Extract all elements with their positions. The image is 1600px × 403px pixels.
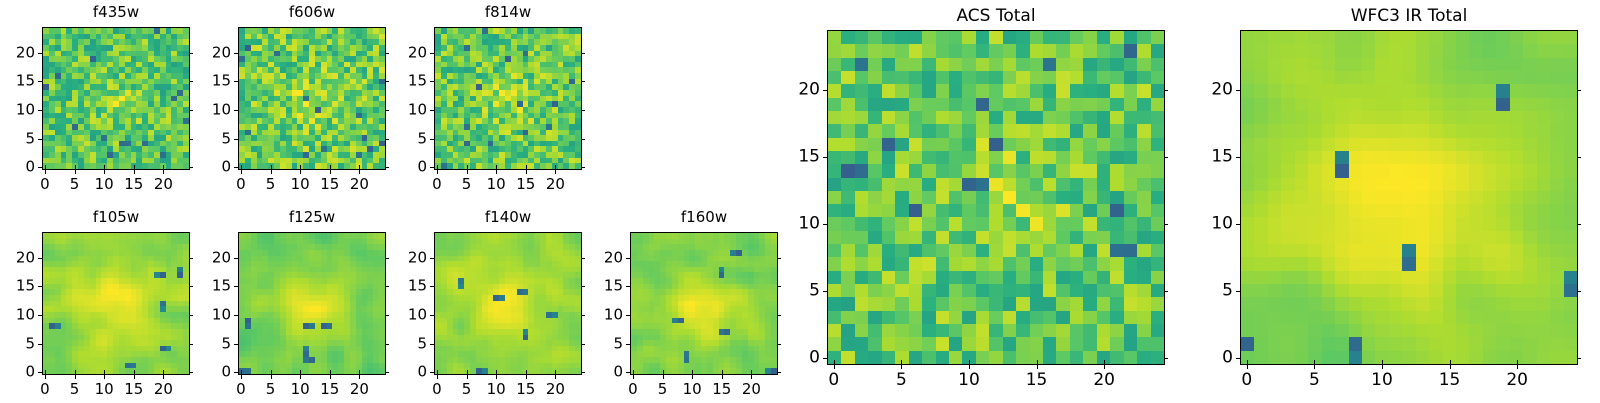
ytick-f125w-5 bbox=[234, 344, 238, 345]
xtick-acs_total-5 bbox=[901, 365, 902, 369]
yticklabel-f105w-5: 5 bbox=[2, 336, 35, 351]
ytick-f435w-0 bbox=[38, 167, 42, 168]
ytick-right-f140w-5 bbox=[581, 344, 585, 345]
heatmap-f606w bbox=[239, 28, 385, 169]
xtick-f606w-0 bbox=[241, 170, 242, 174]
panel-title-f606w: f606w bbox=[238, 5, 386, 20]
xticklabel-f125w-20: 20 bbox=[350, 382, 369, 397]
ytick-wfc3_total-5 bbox=[1236, 291, 1240, 292]
ytick-right-f125w-20 bbox=[385, 258, 389, 259]
yticklabel-wfc3_total-5: 5 bbox=[1200, 283, 1233, 300]
xticklabel-acs_total-20: 20 bbox=[1093, 372, 1115, 389]
ytick-f125w-10 bbox=[234, 315, 238, 316]
xtick-f814w-20 bbox=[555, 170, 556, 174]
ytick-wfc3_total-20 bbox=[1236, 90, 1240, 91]
xtick-inner-f435w-20 bbox=[163, 165, 164, 169]
panel-title-f814w: f814w bbox=[434, 5, 582, 20]
xtick-f140w-20 bbox=[555, 375, 556, 379]
yticklabel-acs_total-10: 10 bbox=[787, 216, 820, 233]
xticklabel-f140w-20: 20 bbox=[546, 382, 565, 397]
xtick-inner-f160w-5 bbox=[663, 370, 664, 374]
ytick-right-wfc3_total-5 bbox=[1577, 291, 1581, 292]
yticklabel-f435w-5: 5 bbox=[2, 131, 35, 146]
xticklabel-f140w-10: 10 bbox=[487, 382, 506, 397]
xtick-acs_total-0 bbox=[834, 365, 835, 369]
heatmap-f814w bbox=[435, 28, 581, 169]
xtick-inner-f814w-5 bbox=[467, 165, 468, 169]
yticklabel-f140w-20: 20 bbox=[394, 250, 427, 265]
xtick-f105w-15 bbox=[134, 375, 135, 379]
ytick-right-f105w-15 bbox=[189, 286, 193, 287]
ytick-right-f814w-20 bbox=[581, 53, 585, 54]
panel-f606w: f606w0510152005101520 bbox=[198, 3, 406, 198]
xticklabel-f105w-5: 5 bbox=[70, 382, 80, 397]
heatmap-f435w bbox=[43, 28, 189, 169]
xticklabel-f435w-5: 5 bbox=[70, 177, 80, 192]
ytick-f814w-0 bbox=[430, 167, 434, 168]
xtick-f125w-20 bbox=[359, 375, 360, 379]
yticklabel-f814w-15: 15 bbox=[394, 74, 427, 89]
yticklabel-f606w-15: 15 bbox=[198, 74, 231, 89]
xticklabel-f435w-10: 10 bbox=[95, 177, 114, 192]
xticklabel-f606w-20: 20 bbox=[350, 177, 369, 192]
xticklabel-f814w-0: 0 bbox=[432, 177, 442, 192]
panel-title-f140w: f140w bbox=[434, 210, 582, 225]
xtick-wfc3_total-20 bbox=[1517, 365, 1518, 369]
xtick-inner-f606w-15 bbox=[330, 165, 331, 169]
xtick-wfc3_total-10 bbox=[1382, 365, 1383, 369]
ytick-f125w-15 bbox=[234, 286, 238, 287]
xticklabel-f125w-0: 0 bbox=[236, 382, 246, 397]
heatmap-f125w bbox=[239, 233, 385, 374]
ytick-right-f606w-10 bbox=[385, 110, 389, 111]
ytick-right-f160w-15 bbox=[777, 286, 781, 287]
xtick-f105w-10 bbox=[104, 375, 105, 379]
xticklabel-acs_total-10: 10 bbox=[958, 372, 980, 389]
axes-f160w bbox=[630, 232, 778, 375]
xtick-inner-f160w-10 bbox=[692, 370, 693, 374]
axes-f105w bbox=[42, 232, 190, 375]
xtick-inner-f814w-15 bbox=[526, 165, 527, 169]
xtick-f105w-0 bbox=[45, 375, 46, 379]
panel-f125w: f125w0510152005101520 bbox=[198, 208, 406, 403]
ytick-right-acs_total-10 bbox=[1164, 224, 1168, 225]
xtick-f140w-10 bbox=[496, 375, 497, 379]
xtick-inner-f160w-0 bbox=[633, 370, 634, 374]
xtick-f105w-5 bbox=[75, 375, 76, 379]
axes-f435w bbox=[42, 27, 190, 170]
ytick-right-acs_total-0 bbox=[1164, 358, 1168, 359]
ytick-right-wfc3_total-0 bbox=[1577, 358, 1581, 359]
xtick-f606w-10 bbox=[300, 170, 301, 174]
ytick-wfc3_total-15 bbox=[1236, 157, 1240, 158]
yticklabel-f105w-20: 20 bbox=[2, 250, 35, 265]
panel-f160w: f160w0510152005101520 bbox=[590, 208, 798, 403]
xticklabel-f606w-0: 0 bbox=[236, 177, 246, 192]
ytick-right-acs_total-15 bbox=[1164, 157, 1168, 158]
yticklabel-f125w-0: 0 bbox=[198, 365, 231, 380]
ytick-f160w-10 bbox=[626, 315, 630, 316]
ytick-right-f814w-5 bbox=[581, 139, 585, 140]
panel-title-acs_total: ACS Total bbox=[827, 8, 1165, 25]
xtick-inner-wfc3_total-20 bbox=[1517, 360, 1518, 364]
ytick-acs_total-10 bbox=[823, 224, 827, 225]
yticklabel-f160w-0: 0 bbox=[590, 365, 623, 380]
xticklabel-f606w-15: 15 bbox=[320, 177, 339, 192]
yticklabel-f160w-10: 10 bbox=[590, 307, 623, 322]
ytick-right-f140w-0 bbox=[581, 372, 585, 373]
axes-f140w bbox=[434, 232, 582, 375]
xtick-f140w-15 bbox=[526, 375, 527, 379]
ytick-right-f160w-10 bbox=[777, 315, 781, 316]
xticklabel-f105w-10: 10 bbox=[95, 382, 114, 397]
ytick-wfc3_total-0 bbox=[1236, 358, 1240, 359]
ytick-f814w-10 bbox=[430, 110, 434, 111]
xticklabel-wfc3_total-20: 20 bbox=[1506, 372, 1528, 389]
xtick-inner-f435w-5 bbox=[75, 165, 76, 169]
xtick-f606w-15 bbox=[330, 170, 331, 174]
xtick-f160w-20 bbox=[751, 375, 752, 379]
ytick-f160w-15 bbox=[626, 286, 630, 287]
ytick-right-f125w-0 bbox=[385, 372, 389, 373]
xtick-inner-f125w-15 bbox=[330, 370, 331, 374]
heatmap-wfc3_total bbox=[1241, 31, 1577, 364]
xtick-inner-acs_total-20 bbox=[1104, 360, 1105, 364]
ytick-right-f435w-20 bbox=[189, 53, 193, 54]
xtick-f606w-5 bbox=[271, 170, 272, 174]
ytick-right-f160w-20 bbox=[777, 258, 781, 259]
xtick-inner-f606w-10 bbox=[300, 165, 301, 169]
xtick-inner-acs_total-5 bbox=[901, 360, 902, 364]
xticklabel-f814w-5: 5 bbox=[462, 177, 472, 192]
ytick-right-acs_total-5 bbox=[1164, 291, 1168, 292]
ytick-f435w-20 bbox=[38, 53, 42, 54]
xtick-inner-f125w-10 bbox=[300, 370, 301, 374]
xtick-inner-wfc3_total-5 bbox=[1314, 360, 1315, 364]
yticklabel-acs_total-15: 15 bbox=[787, 149, 820, 166]
xtick-f160w-10 bbox=[692, 375, 693, 379]
ytick-f125w-20 bbox=[234, 258, 238, 259]
ytick-right-f160w-0 bbox=[777, 372, 781, 373]
yticklabel-f606w-0: 0 bbox=[198, 160, 231, 175]
xtick-f435w-5 bbox=[75, 170, 76, 174]
ytick-right-f435w-0 bbox=[189, 167, 193, 168]
ytick-right-f435w-5 bbox=[189, 139, 193, 140]
xticklabel-f435w-20: 20 bbox=[154, 177, 173, 192]
xtick-f814w-10 bbox=[496, 170, 497, 174]
xtick-inner-f160w-20 bbox=[751, 370, 752, 374]
xticklabel-f140w-0: 0 bbox=[432, 382, 442, 397]
xticklabel-f160w-5: 5 bbox=[658, 382, 668, 397]
xtick-inner-f140w-0 bbox=[437, 370, 438, 374]
xtick-wfc3_total-0 bbox=[1247, 365, 1248, 369]
xticklabel-f125w-15: 15 bbox=[320, 382, 339, 397]
ytick-f105w-20 bbox=[38, 258, 42, 259]
yticklabel-f435w-15: 15 bbox=[2, 74, 35, 89]
ytick-f105w-10 bbox=[38, 315, 42, 316]
ytick-right-f140w-10 bbox=[581, 315, 585, 316]
panel-title-wfc3_total: WFC3 IR Total bbox=[1240, 8, 1578, 25]
ytick-acs_total-15 bbox=[823, 157, 827, 158]
xtick-inner-f606w-0 bbox=[241, 165, 242, 169]
ytick-right-f125w-15 bbox=[385, 286, 389, 287]
ytick-f160w-5 bbox=[626, 344, 630, 345]
yticklabel-f814w-5: 5 bbox=[394, 131, 427, 146]
xtick-inner-f435w-10 bbox=[104, 165, 105, 169]
xtick-inner-f125w-0 bbox=[241, 370, 242, 374]
ytick-f125w-0 bbox=[234, 372, 238, 373]
ytick-f105w-5 bbox=[38, 344, 42, 345]
xtick-f125w-15 bbox=[330, 375, 331, 379]
yticklabel-f606w-20: 20 bbox=[198, 45, 231, 60]
xticklabel-f606w-5: 5 bbox=[266, 177, 276, 192]
ytick-right-f125w-10 bbox=[385, 315, 389, 316]
xtick-inner-acs_total-0 bbox=[834, 360, 835, 364]
ytick-right-f435w-10 bbox=[189, 110, 193, 111]
ytick-f140w-0 bbox=[430, 372, 434, 373]
xtick-f814w-15 bbox=[526, 170, 527, 174]
yticklabel-f125w-20: 20 bbox=[198, 250, 231, 265]
xtick-f125w-5 bbox=[271, 375, 272, 379]
xtick-f435w-20 bbox=[163, 170, 164, 174]
ytick-right-f160w-5 bbox=[777, 344, 781, 345]
ytick-right-f606w-15 bbox=[385, 81, 389, 82]
yticklabel-acs_total-20: 20 bbox=[787, 82, 820, 99]
yticklabel-f105w-10: 10 bbox=[2, 307, 35, 322]
yticklabel-f140w-0: 0 bbox=[394, 365, 427, 380]
ytick-f606w-10 bbox=[234, 110, 238, 111]
axes-wfc3_total bbox=[1240, 30, 1578, 365]
yticklabel-acs_total-0: 0 bbox=[787, 350, 820, 367]
xtick-f105w-20 bbox=[163, 375, 164, 379]
axes-f125w bbox=[238, 232, 386, 375]
ytick-f606w-0 bbox=[234, 167, 238, 168]
panel-wfc3_total: WFC3 IR Total0510152005101520 bbox=[1200, 6, 1598, 393]
ytick-f435w-5 bbox=[38, 139, 42, 140]
ytick-right-acs_total-20 bbox=[1164, 90, 1168, 91]
panel-title-f435w: f435w bbox=[42, 5, 190, 20]
ytick-f814w-20 bbox=[430, 53, 434, 54]
xticklabel-f105w-15: 15 bbox=[124, 382, 143, 397]
xticklabel-acs_total-0: 0 bbox=[828, 372, 839, 389]
xtick-inner-f814w-20 bbox=[555, 165, 556, 169]
xticklabel-wfc3_total-10: 10 bbox=[1371, 372, 1393, 389]
xtick-inner-f125w-5 bbox=[271, 370, 272, 374]
xtick-f814w-0 bbox=[437, 170, 438, 174]
yticklabel-f125w-15: 15 bbox=[198, 279, 231, 294]
ytick-right-f606w-5 bbox=[385, 139, 389, 140]
heatmap-f140w bbox=[435, 233, 581, 374]
yticklabel-f160w-5: 5 bbox=[590, 336, 623, 351]
ytick-f606w-15 bbox=[234, 81, 238, 82]
xticklabel-acs_total-5: 5 bbox=[896, 372, 907, 389]
xticklabel-f125w-10: 10 bbox=[291, 382, 310, 397]
xtick-inner-f105w-20 bbox=[163, 370, 164, 374]
xtick-inner-f435w-15 bbox=[134, 165, 135, 169]
yticklabel-f140w-5: 5 bbox=[394, 336, 427, 351]
xticklabel-f606w-10: 10 bbox=[291, 177, 310, 192]
xtick-f160w-5 bbox=[663, 375, 664, 379]
xtick-inner-wfc3_total-10 bbox=[1382, 360, 1383, 364]
xtick-inner-f814w-0 bbox=[437, 165, 438, 169]
ytick-right-f606w-20 bbox=[385, 53, 389, 54]
yticklabel-f435w-10: 10 bbox=[2, 102, 35, 117]
ytick-f140w-20 bbox=[430, 258, 434, 259]
xtick-inner-f606w-20 bbox=[359, 165, 360, 169]
xtick-f140w-0 bbox=[437, 375, 438, 379]
ytick-acs_total-20 bbox=[823, 90, 827, 91]
yticklabel-f160w-20: 20 bbox=[590, 250, 623, 265]
xticklabel-acs_total-15: 15 bbox=[1026, 372, 1048, 389]
yticklabel-f125w-5: 5 bbox=[198, 336, 231, 351]
ytick-f435w-15 bbox=[38, 81, 42, 82]
ytick-right-wfc3_total-15 bbox=[1577, 157, 1581, 158]
xticklabel-f160w-20: 20 bbox=[742, 382, 761, 397]
panel-f140w: f140w0510152005101520 bbox=[394, 208, 602, 403]
ytick-f140w-10 bbox=[430, 315, 434, 316]
xtick-inner-f606w-5 bbox=[271, 165, 272, 169]
xtick-inner-f814w-10 bbox=[496, 165, 497, 169]
yticklabel-f140w-15: 15 bbox=[394, 279, 427, 294]
xtick-inner-f105w-15 bbox=[134, 370, 135, 374]
heatmap-f160w bbox=[631, 233, 777, 374]
heatmap-acs_total bbox=[828, 31, 1164, 364]
xticklabel-f160w-0: 0 bbox=[628, 382, 638, 397]
xticklabel-f105w-20: 20 bbox=[154, 382, 173, 397]
xtick-inner-f160w-15 bbox=[722, 370, 723, 374]
xtick-f606w-20 bbox=[359, 170, 360, 174]
yticklabel-f160w-15: 15 bbox=[590, 279, 623, 294]
xtick-f814w-5 bbox=[467, 170, 468, 174]
figure-canvas: f435w0510152005101520f606w05101520051015… bbox=[0, 0, 1600, 400]
yticklabel-f125w-10: 10 bbox=[198, 307, 231, 322]
xtick-f125w-0 bbox=[241, 375, 242, 379]
xtick-wfc3_total-5 bbox=[1314, 365, 1315, 369]
xtick-inner-acs_total-10 bbox=[969, 360, 970, 364]
ytick-acs_total-5 bbox=[823, 291, 827, 292]
ytick-right-f435w-15 bbox=[189, 81, 193, 82]
ytick-f435w-10 bbox=[38, 110, 42, 111]
yticklabel-f606w-5: 5 bbox=[198, 131, 231, 146]
axes-f606w bbox=[238, 27, 386, 170]
ytick-right-f814w-10 bbox=[581, 110, 585, 111]
xticklabel-f435w-15: 15 bbox=[124, 177, 143, 192]
yticklabel-acs_total-5: 5 bbox=[787, 283, 820, 300]
ytick-right-f140w-20 bbox=[581, 258, 585, 259]
panel-f435w: f435w0510152005101520 bbox=[2, 3, 210, 198]
ytick-f160w-20 bbox=[626, 258, 630, 259]
panel-acs_total: ACS Total0510152005101520 bbox=[787, 6, 1185, 393]
ytick-right-f606w-0 bbox=[385, 167, 389, 168]
panel-title-f105w: f105w bbox=[42, 210, 190, 225]
xtick-f435w-10 bbox=[104, 170, 105, 174]
xticklabel-f814w-10: 10 bbox=[487, 177, 506, 192]
panel-f814w: f814w0510152005101520 bbox=[394, 3, 602, 198]
yticklabel-f814w-0: 0 bbox=[394, 160, 427, 175]
xtick-wfc3_total-15 bbox=[1450, 365, 1451, 369]
xticklabel-f125w-5: 5 bbox=[266, 382, 276, 397]
xtick-inner-f140w-20 bbox=[555, 370, 556, 374]
yticklabel-f435w-20: 20 bbox=[2, 45, 35, 60]
xtick-inner-acs_total-15 bbox=[1037, 360, 1038, 364]
yticklabel-wfc3_total-0: 0 bbox=[1200, 350, 1233, 367]
yticklabel-f435w-0: 0 bbox=[2, 160, 35, 175]
ytick-wfc3_total-10 bbox=[1236, 224, 1240, 225]
axes-acs_total bbox=[827, 30, 1165, 365]
xtick-inner-f105w-5 bbox=[75, 370, 76, 374]
yticklabel-wfc3_total-20: 20 bbox=[1200, 82, 1233, 99]
xtick-inner-f435w-0 bbox=[45, 165, 46, 169]
ytick-f160w-0 bbox=[626, 372, 630, 373]
ytick-right-f105w-5 bbox=[189, 344, 193, 345]
panel-f105w: f105w0510152005101520 bbox=[2, 208, 210, 403]
xticklabel-f435w-0: 0 bbox=[40, 177, 50, 192]
xticklabel-wfc3_total-0: 0 bbox=[1241, 372, 1252, 389]
ytick-f105w-0 bbox=[38, 372, 42, 373]
yticklabel-f814w-20: 20 bbox=[394, 45, 427, 60]
xticklabel-f140w-5: 5 bbox=[462, 382, 472, 397]
xticklabel-wfc3_total-15: 15 bbox=[1439, 372, 1461, 389]
ytick-right-wfc3_total-10 bbox=[1577, 224, 1581, 225]
xticklabel-f814w-20: 20 bbox=[546, 177, 565, 192]
yticklabel-f105w-15: 15 bbox=[2, 279, 35, 294]
xtick-f125w-10 bbox=[300, 375, 301, 379]
ytick-right-f814w-0 bbox=[581, 167, 585, 168]
xticklabel-wfc3_total-5: 5 bbox=[1309, 372, 1320, 389]
ytick-right-f140w-15 bbox=[581, 286, 585, 287]
xtick-inner-f140w-10 bbox=[496, 370, 497, 374]
xtick-inner-f140w-15 bbox=[526, 370, 527, 374]
ytick-right-f105w-20 bbox=[189, 258, 193, 259]
yticklabel-f140w-10: 10 bbox=[394, 307, 427, 322]
xtick-f435w-15 bbox=[134, 170, 135, 174]
xtick-f435w-0 bbox=[45, 170, 46, 174]
ytick-f105w-15 bbox=[38, 286, 42, 287]
ytick-acs_total-0 bbox=[823, 358, 827, 359]
xtick-inner-f105w-10 bbox=[104, 370, 105, 374]
ytick-f814w-5 bbox=[430, 139, 434, 140]
yticklabel-f814w-10: 10 bbox=[394, 102, 427, 117]
panel-title-f160w: f160w bbox=[630, 210, 778, 225]
ytick-right-wfc3_total-20 bbox=[1577, 90, 1581, 91]
yticklabel-wfc3_total-15: 15 bbox=[1200, 149, 1233, 166]
yticklabel-f105w-0: 0 bbox=[2, 365, 35, 380]
yticklabel-f606w-10: 10 bbox=[198, 102, 231, 117]
xtick-inner-wfc3_total-15 bbox=[1450, 360, 1451, 364]
xticklabel-f160w-10: 10 bbox=[683, 382, 702, 397]
ytick-right-f814w-15 bbox=[581, 81, 585, 82]
xtick-inner-f140w-5 bbox=[467, 370, 468, 374]
xtick-acs_total-10 bbox=[969, 365, 970, 369]
xtick-f140w-5 bbox=[467, 375, 468, 379]
xticklabel-f105w-0: 0 bbox=[40, 382, 50, 397]
xtick-acs_total-20 bbox=[1104, 365, 1105, 369]
axes-f814w bbox=[434, 27, 582, 170]
xtick-inner-wfc3_total-0 bbox=[1247, 360, 1248, 364]
xtick-f160w-15 bbox=[722, 375, 723, 379]
heatmap-f105w bbox=[43, 233, 189, 374]
xticklabel-f160w-15: 15 bbox=[712, 382, 731, 397]
ytick-right-f125w-5 bbox=[385, 344, 389, 345]
xtick-acs_total-15 bbox=[1037, 365, 1038, 369]
xticklabel-f140w-15: 15 bbox=[516, 382, 535, 397]
xticklabel-f814w-15: 15 bbox=[516, 177, 535, 192]
xtick-inner-f125w-20 bbox=[359, 370, 360, 374]
ytick-f140w-15 bbox=[430, 286, 434, 287]
panel-title-f125w: f125w bbox=[238, 210, 386, 225]
xtick-inner-f105w-0 bbox=[45, 370, 46, 374]
ytick-f606w-5 bbox=[234, 139, 238, 140]
